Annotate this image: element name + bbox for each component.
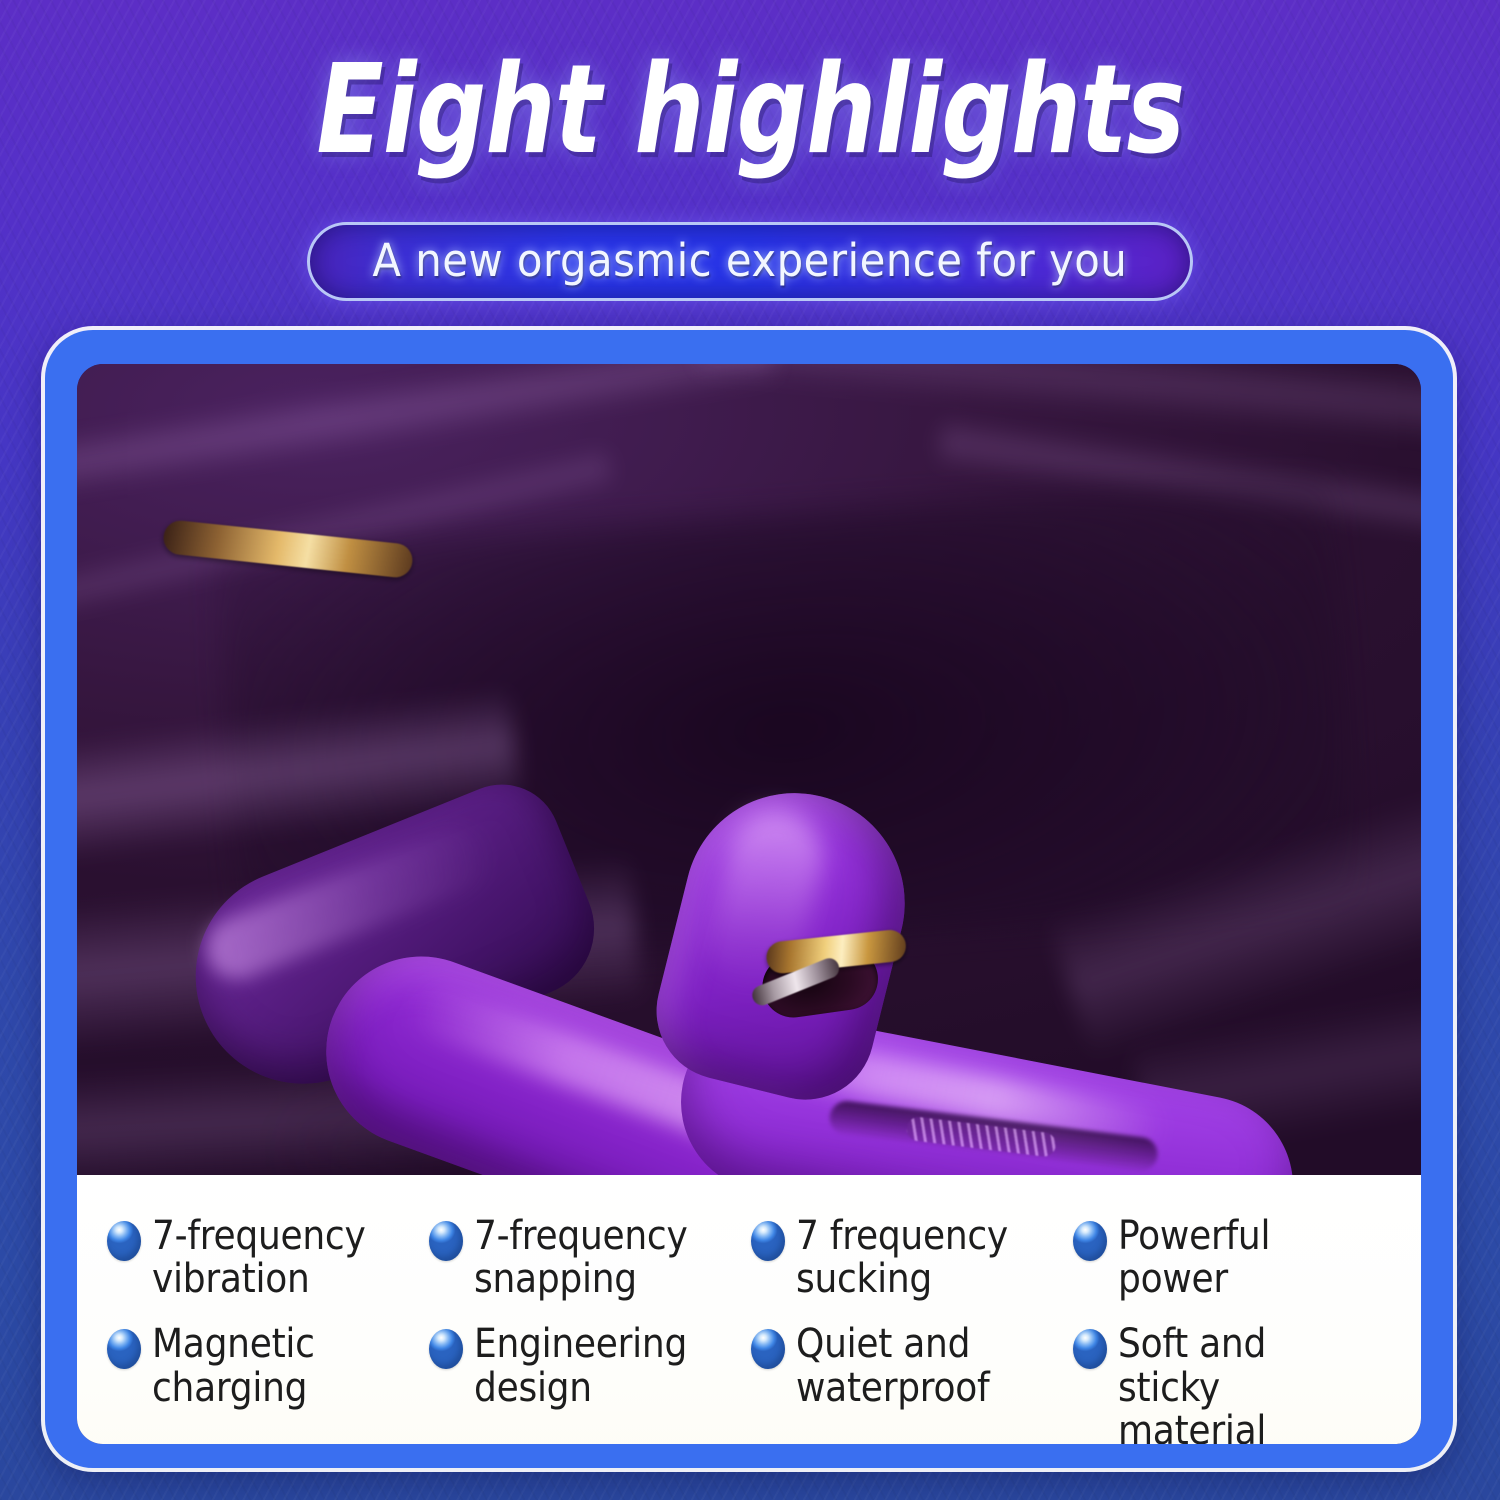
page-title: Eight highlights — [316, 46, 1184, 175]
feature-label: Engineering design — [474, 1323, 687, 1409]
product-photo — [77, 364, 1421, 1175]
feature-item-powerful-power: Powerful power — [1073, 1215, 1395, 1301]
subtitle-pill: A new orgasmic experience for you — [307, 222, 1193, 301]
feature-row-1: 7-frequency vibration 7-frequency snappi… — [107, 1215, 1395, 1301]
feature-label: 7 frequency sucking — [796, 1215, 1008, 1301]
subtitle-text: A new orgasmic experience for you — [373, 234, 1128, 287]
feature-item-engineering-design: Engineering design — [429, 1323, 751, 1444]
bullet-sphere-icon — [429, 1221, 463, 1261]
feature-row-2: Magnetic charging Engineering design Qui… — [107, 1323, 1395, 1444]
bullet-sphere-icon — [107, 1329, 141, 1369]
feature-label: Soft and sticky material — [1118, 1323, 1367, 1444]
handle-gold-accent — [162, 519, 414, 579]
bullet-sphere-icon — [751, 1221, 785, 1261]
feature-label: 7-frequency vibration — [152, 1215, 365, 1301]
feature-item-sucking: 7 frequency sucking — [751, 1215, 1073, 1301]
bullet-sphere-icon — [107, 1221, 141, 1261]
bullet-sphere-icon — [1073, 1221, 1107, 1261]
subtitle-container: A new orgasmic experience for you — [0, 222, 1500, 301]
feature-item-soft-sticky-material: Soft and sticky material — [1073, 1323, 1395, 1444]
card-inner: 7-frequency vibration 7-frequency snappi… — [77, 364, 1421, 1444]
feature-item-magnetic-charging: Magnetic charging — [107, 1323, 429, 1444]
bullet-sphere-icon — [429, 1329, 463, 1369]
product-illustration — [77, 364, 1421, 1175]
promo-poster: Eight highlights A new orgasmic experien… — [0, 0, 1500, 1500]
feature-item-vibration: 7-frequency vibration — [107, 1215, 429, 1301]
feature-label: Magnetic charging — [152, 1323, 315, 1409]
feature-panel: 7-frequency vibration 7-frequency snappi… — [77, 1175, 1421, 1444]
feature-label: Quiet and waterproof — [796, 1323, 989, 1409]
bullet-sphere-icon — [1073, 1329, 1107, 1369]
title-container: Eight highlights — [0, 46, 1500, 175]
feature-item-snapping: 7-frequency snapping — [429, 1215, 751, 1301]
feature-item-quiet-waterproof: Quiet and waterproof — [751, 1323, 1073, 1444]
feature-label: 7-frequency snapping — [474, 1215, 687, 1301]
feature-label: Powerful power — [1118, 1215, 1367, 1301]
product-card: 7-frequency vibration 7-frequency snappi… — [45, 330, 1453, 1468]
bullet-sphere-icon — [751, 1329, 785, 1369]
